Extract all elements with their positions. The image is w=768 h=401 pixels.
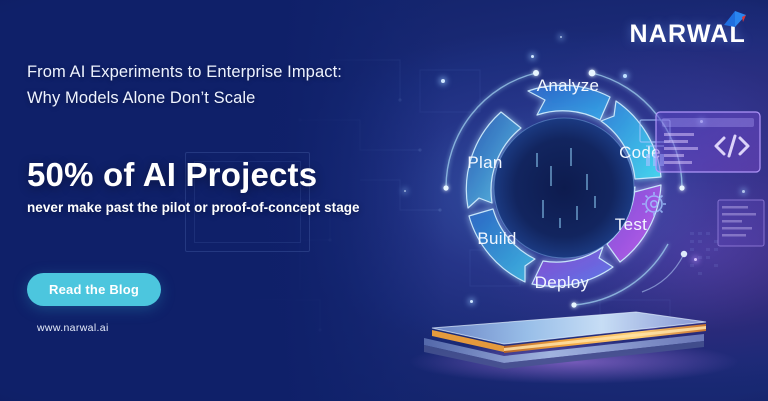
narwal-angular-mark-icon <box>722 9 748 29</box>
website-url[interactable]: www.narwal.ai <box>37 322 109 334</box>
headline-line-2: Why Models Alone Don’t Scale <box>27 86 342 112</box>
headline: From AI Experiments to Enterprise Impact… <box>27 60 342 111</box>
headline-line-1: From AI Experiments to Enterprise Impact… <box>27 63 342 81</box>
copy-block: From AI Experiments to Enterprise Impact… <box>27 0 447 401</box>
read-the-blog-button[interactable]: Read the Blog <box>27 273 161 306</box>
stat-description: never make past the pilot or proof-of-co… <box>27 200 360 215</box>
narwal-logo[interactable]: NARWAL <box>630 22 746 47</box>
stat-value: 50% of AI Projects <box>27 157 317 193</box>
narwal-ai-banner: Analyze Code Test Deploy Build Plan <box>0 0 768 401</box>
